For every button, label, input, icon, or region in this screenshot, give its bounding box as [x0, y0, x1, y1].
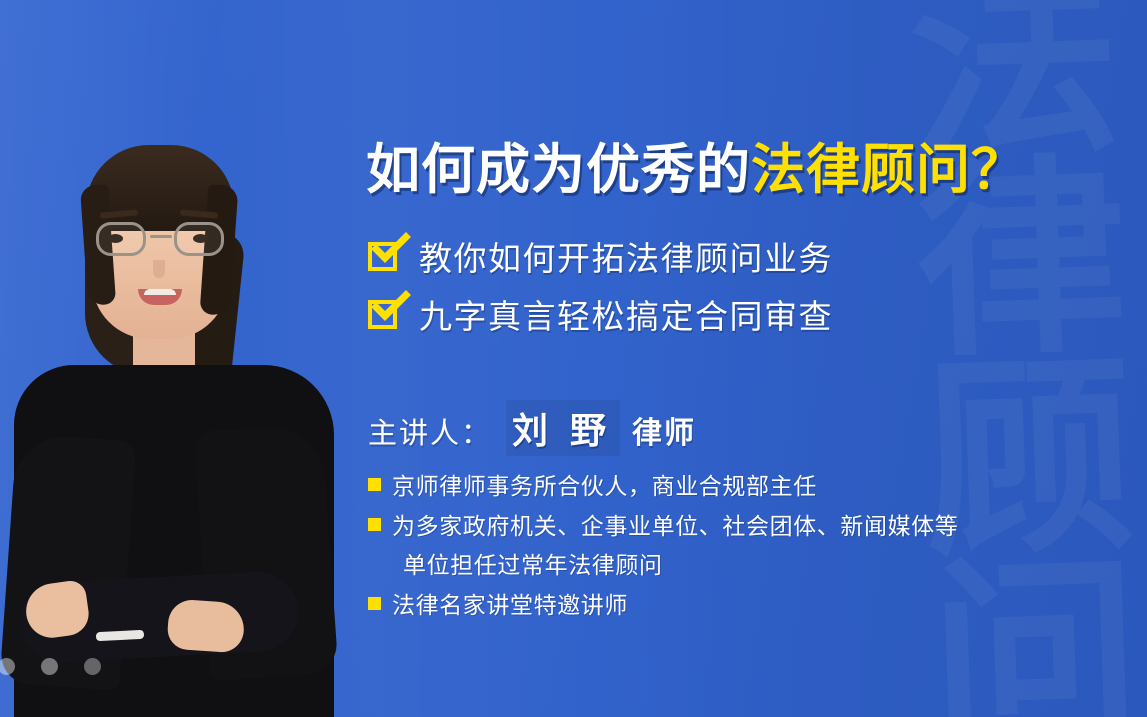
headline-part-plain: 如何成为优秀的 [366, 140, 751, 200]
speaker-name: 刘 野 [506, 400, 620, 456]
credential-text: 法律名家讲堂特邀讲师 [392, 589, 628, 622]
credential-text: 单位担任过常年法律顾问 [403, 549, 663, 582]
checklist-item: 教你如何开拓法律顾问业务 [368, 234, 833, 278]
bullet-square-icon [368, 518, 381, 531]
checklist-item: 九字真言轻松搞定合同审查 [368, 292, 833, 336]
checklist-item-label: 教你如何开拓法律顾问业务 [419, 232, 833, 280]
content-column: 如何成为优秀的法律顾问？ 教你如何开拓法律顾问业务 九字真言轻松搞定合同审查 [366, 0, 1126, 717]
speaker-credentials-list: 京师律师事务所合伙人，商业合规部主任 为多家政府机关、企事业单位、社会团体、新闻… [368, 470, 958, 629]
checkbox-checked-icon [368, 300, 397, 329]
check-mark-icon [373, 294, 407, 321]
course-promo-poster: 法 律 顾 问 [0, 0, 1147, 717]
decor-dot [41, 658, 58, 675]
bullet-square-icon [368, 478, 381, 491]
credential-text: 为多家政府机关、企事业单位、社会团体、新闻媒体等 [392, 510, 958, 543]
credential-item-continuation: 单位担任过常年法律顾问 [368, 549, 958, 582]
credential-item: 法律名家讲堂特邀讲师 [368, 589, 958, 622]
speaker-title: 律师 [632, 408, 696, 452]
checkbox-checked-icon [368, 242, 397, 271]
poster-headline: 如何成为优秀的法律顾问？ [366, 143, 1026, 197]
decorative-dots [0, 658, 101, 675]
headline-part-highlight: 法律顾问？ [751, 140, 1026, 200]
decor-dot [84, 658, 101, 675]
check-mark-icon [373, 236, 407, 263]
feature-checklist: 教你如何开拓法律顾问业务 九字真言轻松搞定合同审查 [368, 234, 833, 350]
bullet-square-icon [368, 597, 381, 610]
speaker-prefix-label: 主讲人： [368, 410, 492, 452]
decor-dot [0, 658, 15, 675]
credential-item: 京师律师事务所合伙人，商业合规部主任 [368, 470, 958, 503]
checklist-item-label: 九字真言轻松搞定合同审查 [419, 290, 833, 338]
credential-item: 为多家政府机关、企事业单位、社会团体、新闻媒体等 [368, 510, 958, 543]
speaker-line: 主讲人： 刘 野 律师 [368, 400, 696, 456]
bullet-placeholder [368, 557, 381, 570]
credential-text: 京师律师事务所合伙人，商业合规部主任 [392, 470, 817, 503]
